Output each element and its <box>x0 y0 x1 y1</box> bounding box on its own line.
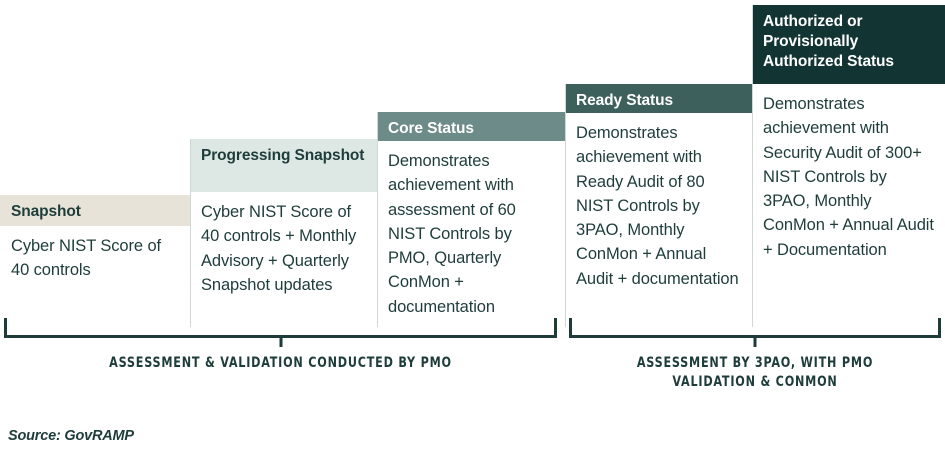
3pao-bracket-tick <box>754 335 757 347</box>
stage-header-core-status: Core Status <box>377 112 565 141</box>
stage-header-snapshot: Snapshot <box>0 195 191 226</box>
stage-column-snapshot: Snapshot Cyber NIST Score of 40 controls <box>0 195 191 327</box>
stage-column-progressing-snapshot: Progressing Snapshot Cyber NIST Score of… <box>190 139 378 327</box>
stage-body-core-status: Demonstrates achievement with assessment… <box>377 141 565 329</box>
column-divider <box>190 139 191 327</box>
column-divider <box>565 84 566 327</box>
stage-body-ready-status: Demonstrates achievement with Ready Audi… <box>565 113 753 301</box>
stage-body-progressing-snapshot: Cyber NIST Score of 40 controls + Monthl… <box>190 192 378 307</box>
stage-header-progressing-snapshot: Progressing Snapshot <box>190 139 378 192</box>
pmo-bracket-tick <box>279 335 282 347</box>
stage-column-ready-status: Ready Status Demonstrates achievement wi… <box>565 84 753 327</box>
stage-body-authorized-status: Demonstrates achievement with Security A… <box>752 84 945 272</box>
source-note: Source: GovRAMP <box>8 428 134 444</box>
stage-column-authorized-status: Authorized or Provisionally Authorized S… <box>752 5 945 327</box>
column-divider <box>377 112 378 327</box>
stage-header-ready-status: Ready Status <box>565 84 753 113</box>
column-divider <box>752 5 753 327</box>
stage-column-core-status: Core Status Demonstrates achievement wit… <box>377 112 565 327</box>
3pao-bracket <box>569 318 941 338</box>
pmo-bracket-label: ASSESSMENT & VALIDATION CONDUCTED BY PMO <box>43 354 519 373</box>
pmo-bracket <box>4 318 557 338</box>
staircase-figure: Snapshot Cyber NIST Score of 40 controls… <box>0 0 945 465</box>
stage-header-authorized-status: Authorized or Provisionally Authorized S… <box>752 5 945 84</box>
3pao-bracket-label: ASSESSMENT BY 3PAO, WITH PMO VALIDATION … <box>595 354 915 393</box>
stage-body-snapshot: Cyber NIST Score of 40 controls <box>0 226 191 293</box>
